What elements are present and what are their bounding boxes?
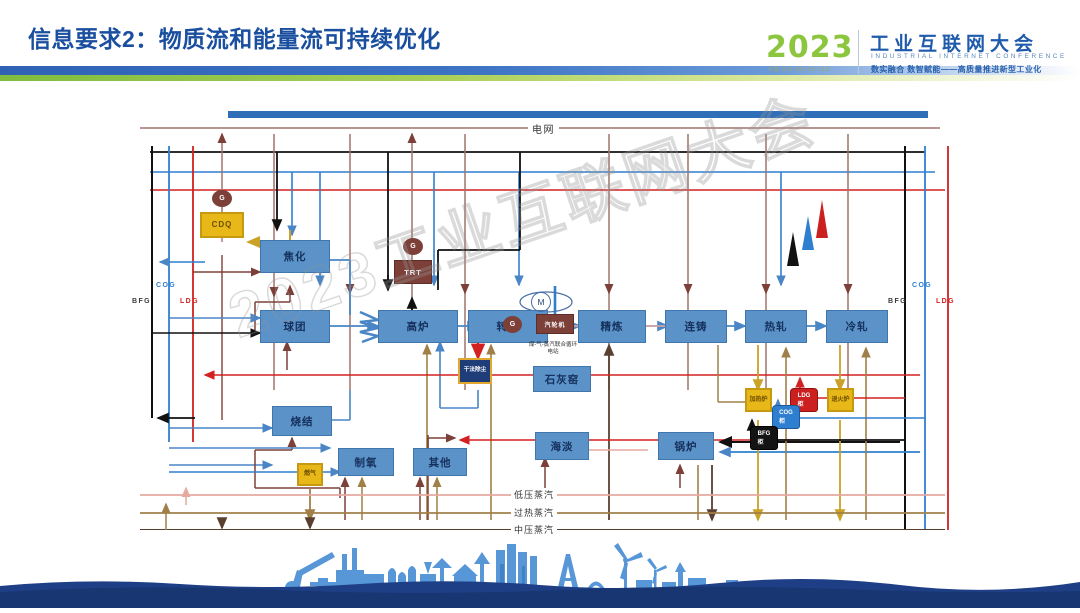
stack-black-icon bbox=[787, 232, 799, 266]
node-gas-burner[interactable]: 燃气 bbox=[297, 463, 323, 486]
turbine-caption: 煤-气-蒸汽联合循环电站 bbox=[498, 342, 608, 356]
process-box-pellet[interactable]: 球团 bbox=[260, 310, 330, 343]
gas-tank-cog-icon: COG柜 bbox=[772, 405, 800, 429]
generator-turbine-icon: G bbox=[503, 316, 522, 333]
process-box-cold-rolling[interactable]: 冷轧 bbox=[826, 310, 888, 343]
process-box-coking[interactable]: 焦化 bbox=[260, 240, 330, 273]
bus-label-bfg-right: BFG bbox=[888, 298, 907, 305]
motor-icon: M bbox=[531, 292, 551, 312]
stack-blue-icon bbox=[802, 216, 814, 250]
logo-name-en: INDUSTRIAL INTERNET CONFERENCE bbox=[871, 53, 1067, 60]
stack-red-icon bbox=[816, 200, 828, 238]
logo-year-detail: 中国·苏州 9月14日-16日 bbox=[768, 66, 831, 73]
generator-trt-icon: G bbox=[403, 238, 423, 255]
bus-label-cog-left: COG bbox=[156, 282, 176, 289]
process-box-blast-furnace[interactable]: 高炉 bbox=[378, 310, 458, 343]
node-steam-turbine[interactable]: 汽轮机 bbox=[536, 314, 574, 334]
bus-label-ldg-right: LDG bbox=[936, 298, 955, 305]
process-box-sintering[interactable]: 烧结 bbox=[272, 406, 332, 436]
generator-cdq-icon: G bbox=[212, 190, 232, 207]
steam-label-low-pressure: 低压蒸汽 bbox=[511, 488, 557, 501]
node-trt[interactable]: TRT bbox=[394, 260, 432, 284]
node-heating-furnace[interactable]: 加热炉 bbox=[745, 388, 772, 412]
process-box-other[interactable]: 其他 bbox=[413, 448, 467, 476]
process-box-boiler[interactable]: 锅炉 bbox=[658, 432, 714, 460]
node-dry-dedusting[interactable]: 干法除尘 bbox=[458, 358, 492, 384]
logo-name-cn: 工业互联网大会 bbox=[870, 29, 1038, 56]
process-box-desalination[interactable]: 海淡 bbox=[535, 432, 589, 460]
logo-divider bbox=[858, 30, 859, 74]
grid-label: 电网 bbox=[528, 121, 559, 136]
node-annealing-furnace[interactable]: 退火炉 bbox=[827, 388, 854, 412]
logo-year: 2023 bbox=[766, 30, 854, 65]
process-box-hot-rolling[interactable]: 热轧 bbox=[745, 310, 807, 343]
conference-logo: 2023 中国·苏州 9月14日-16日 工业互联网大会 INDUSTRIAL … bbox=[766, 28, 1066, 84]
node-cdq[interactable]: CDQ bbox=[200, 212, 244, 238]
bus-label-ldg-left: LDG bbox=[180, 298, 199, 305]
gas-tank-bfg-icon: BFG柜 bbox=[750, 426, 778, 450]
process-box-caster[interactable]: 连铸 bbox=[665, 310, 727, 343]
wave-band bbox=[0, 578, 1080, 608]
slide-header: 信息要求2：物质流和能量流可持续优化 2023 中国·苏州 9月14日-16日 … bbox=[0, 0, 1080, 90]
slide-footer bbox=[0, 530, 1080, 608]
process-box-oxygen[interactable]: 制氧 bbox=[338, 448, 394, 476]
bus-label-cog-right: COG bbox=[912, 282, 932, 289]
energy-flow-diagram: 电网 BFG COG LDG BFG COG LDG 焦化 球团 烧结 高炉 转… bbox=[0, 90, 1080, 530]
page-title: 信息要求2：物质流和能量流可持续优化 bbox=[28, 20, 441, 54]
logo-slogan: 数实融合 数智赋能——高质量推进新型工业化 bbox=[871, 64, 1042, 75]
process-box-refining[interactable]: 精炼 bbox=[578, 310, 646, 343]
steam-label-superheated: 过热蒸汽 bbox=[511, 506, 557, 519]
bus-label-bfg-left: BFG bbox=[132, 298, 151, 305]
process-box-lime-kiln[interactable]: 石灰窑 bbox=[533, 366, 591, 392]
